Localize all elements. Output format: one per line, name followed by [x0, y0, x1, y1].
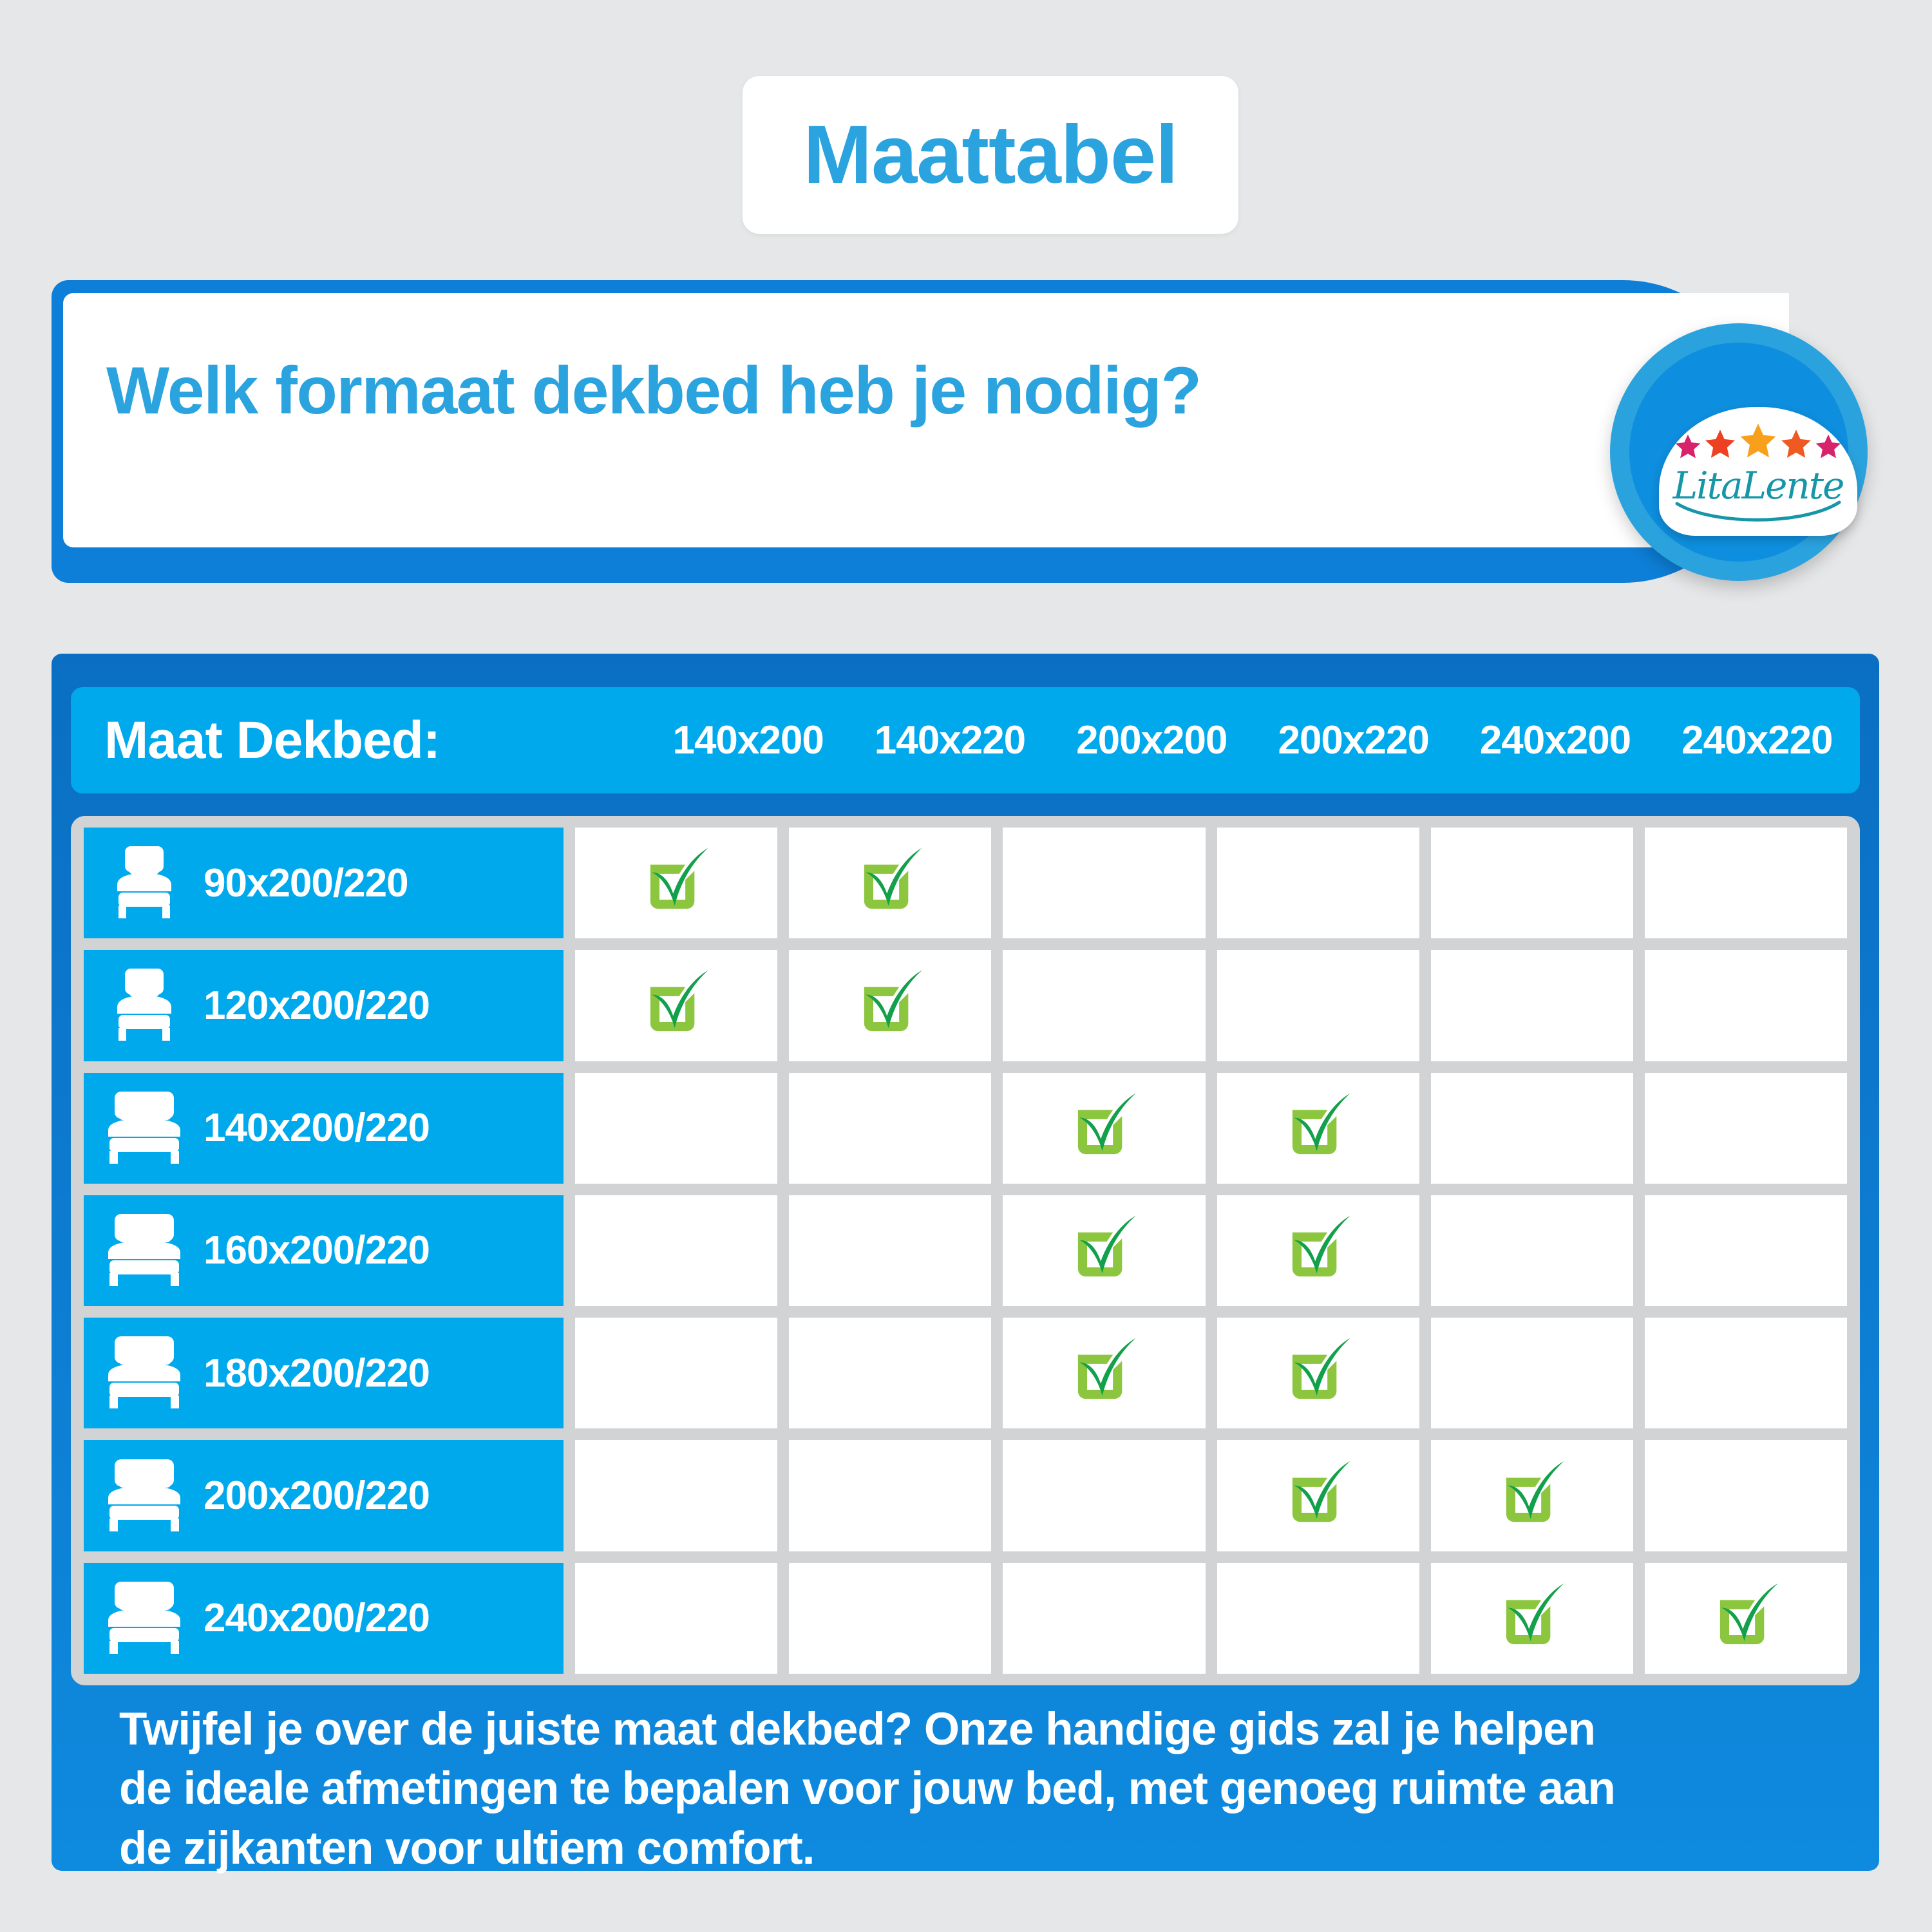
check-icon: [1066, 1090, 1142, 1166]
grid-cell-120x200/220-240x200[interactable]: [1431, 950, 1633, 1061]
check-icon: [1066, 1213, 1142, 1289]
double-bed-icon: [103, 1580, 185, 1656]
footer-line-1: Twijfel je over de juiste maat dekbed? O…: [119, 1700, 1845, 1759]
question-text: Welk formaat dekbed heb je nodig?: [106, 357, 1523, 424]
table-row: 160x200/220: [84, 1195, 1847, 1306]
grid-cell-200x200/220-140x220[interactable]: [789, 1440, 991, 1551]
check-icon: [1280, 1335, 1356, 1411]
grid-cell-180x200/220-240x220[interactable]: [1645, 1318, 1847, 1428]
table-row-header-label: Maat Dekbed:: [104, 710, 440, 771]
row-label-text: 180x200/220: [204, 1350, 430, 1396]
check-icon: [1066, 1335, 1142, 1411]
grid-cell-160x200/220-240x220[interactable]: [1645, 1195, 1847, 1306]
star-icon: [1704, 428, 1736, 460]
row-label-120x200/220[interactable]: 120x200/220: [84, 950, 563, 1061]
grid-row-container: 90x200/220120x200/220140x200/220160x200/…: [71, 816, 1860, 1685]
grid-cell-200x200/220-200x200[interactable]: [1003, 1440, 1205, 1551]
row-cells: [575, 1318, 1847, 1428]
grid-cell-200x200/220-240x220[interactable]: [1645, 1440, 1847, 1551]
single-bed-icon: [103, 967, 185, 1043]
title-card: Maattabel: [743, 76, 1238, 234]
star-icon: [1674, 433, 1701, 460]
column-header: 200x220: [1253, 687, 1454, 793]
logo-swash-icon: [1674, 497, 1842, 527]
row-cells: [575, 828, 1847, 938]
grid-cell-160x200/220-200x220[interactable]: [1217, 1195, 1419, 1306]
check-icon: [638, 845, 714, 921]
grid-cell-120x200/220-200x220[interactable]: [1217, 950, 1419, 1061]
table-row: 200x200/220: [84, 1440, 1847, 1551]
grid-cell-90x200/220-240x200[interactable]: [1431, 828, 1633, 938]
check-icon: [852, 845, 928, 921]
grid-cell-120x200/220-140x220[interactable]: [789, 950, 991, 1061]
check-icon: [1494, 1458, 1570, 1534]
grid-cell-200x200/220-140x200[interactable]: [575, 1440, 777, 1551]
check-icon: [852, 967, 928, 1043]
grid-cell-180x200/220-200x220[interactable]: [1217, 1318, 1419, 1428]
double-bed-icon: [103, 1090, 185, 1166]
check-icon: [1708, 1580, 1784, 1656]
grid-cell-140x200/220-240x200[interactable]: [1431, 1073, 1633, 1184]
grid-cell-240x200/220-200x200[interactable]: [1003, 1563, 1205, 1674]
grid-cell-180x200/220-140x200[interactable]: [575, 1318, 777, 1428]
table-row: 180x200/220: [84, 1318, 1847, 1428]
row-label-160x200/220[interactable]: 160x200/220: [84, 1195, 563, 1306]
logo-pillow-shape: LitaLente: [1659, 407, 1857, 536]
table-header-bar: Maat Dekbed: 140x200 140x220 200x200 200…: [71, 687, 1860, 793]
grid-cell-140x200/220-200x200[interactable]: [1003, 1073, 1205, 1184]
table-column-headers: 140x200 140x220 200x200 200x220 240x200 …: [647, 687, 1858, 793]
grid-cell-240x200/220-200x220[interactable]: [1217, 1563, 1419, 1674]
row-label-text: 120x200/220: [204, 983, 430, 1028]
row-label-text: 140x200/220: [204, 1105, 430, 1151]
row-label-text: 240x200/220: [204, 1595, 430, 1641]
infographic-root: Maattabel Welk formaat dekbed heb je nod…: [0, 0, 1932, 1932]
grid-cell-200x200/220-200x220[interactable]: [1217, 1440, 1419, 1551]
column-header: 240x220: [1656, 687, 1858, 793]
row-label-200x200/220[interactable]: 200x200/220: [84, 1440, 563, 1551]
table-row: 90x200/220: [84, 828, 1847, 938]
row-cells: [575, 950, 1847, 1061]
grid-cell-90x200/220-200x220[interactable]: [1217, 828, 1419, 938]
table-row: 140x200/220: [84, 1073, 1847, 1184]
check-icon: [1280, 1090, 1356, 1166]
grid-cell-200x200/220-240x200[interactable]: [1431, 1440, 1633, 1551]
table-row: 120x200/220: [84, 950, 1847, 1061]
grid-cell-160x200/220-200x200[interactable]: [1003, 1195, 1205, 1306]
row-label-180x200/220[interactable]: 180x200/220: [84, 1318, 563, 1428]
row-cells: [575, 1073, 1847, 1184]
grid-cell-90x200/220-140x200[interactable]: [575, 828, 777, 938]
double-bed-icon: [103, 1458, 185, 1534]
star-icon: [1815, 433, 1842, 460]
column-header: 140x200: [647, 687, 849, 793]
grid-cell-240x200/220-240x220[interactable]: [1645, 1563, 1847, 1674]
row-cells: [575, 1195, 1847, 1306]
check-icon: [1280, 1213, 1356, 1289]
logo-badge: LitaLente: [1610, 323, 1868, 581]
column-header: 240x200: [1454, 687, 1656, 793]
grid-cell-180x200/220-240x200[interactable]: [1431, 1318, 1633, 1428]
double-bed-icon: [103, 1213, 185, 1289]
grid-cell-140x200/220-140x200[interactable]: [575, 1073, 777, 1184]
check-icon: [1280, 1458, 1356, 1534]
grid-cell-90x200/220-140x220[interactable]: [789, 828, 991, 938]
star-icon: [1780, 428, 1812, 460]
page-title: Maattabel: [803, 114, 1177, 196]
grid-cell-240x200/220-240x200[interactable]: [1431, 1563, 1633, 1674]
row-cells: [575, 1563, 1847, 1674]
rating-stars: [1659, 421, 1857, 460]
question-banner: [52, 280, 1758, 596]
grid-cell-140x200/220-240x220[interactable]: [1645, 1073, 1847, 1184]
grid-cell-140x200/220-200x220[interactable]: [1217, 1073, 1419, 1184]
grid-cell-120x200/220-200x200[interactable]: [1003, 950, 1205, 1061]
double-bed-icon: [103, 1335, 185, 1411]
row-cells: [575, 1440, 1847, 1551]
grid-cell-160x200/220-140x200[interactable]: [575, 1195, 777, 1306]
grid-cell-240x200/220-140x200[interactable]: [575, 1563, 777, 1674]
grid-cell-160x200/220-240x200[interactable]: [1431, 1195, 1633, 1306]
logo-badge-inner-circle: LitaLente: [1629, 343, 1848, 562]
column-header: 200x200: [1051, 687, 1253, 793]
row-label-140x200/220[interactable]: 140x200/220: [84, 1073, 563, 1184]
footer-line-2: de ideale afmetingen te bepalen voor jou…: [119, 1759, 1845, 1819]
grid-cell-180x200/220-140x220[interactable]: [789, 1318, 991, 1428]
star-icon: [1739, 421, 1777, 460]
table-row: 240x200/220: [84, 1563, 1847, 1674]
row-label-text: 200x200/220: [204, 1473, 430, 1519]
footer-text: Twijfel je over de juiste maat dekbed? O…: [119, 1700, 1845, 1879]
check-icon: [638, 967, 714, 1043]
grid-cell-90x200/220-200x200[interactable]: [1003, 828, 1205, 938]
size-grid: 90x200/220120x200/220140x200/220160x200/…: [71, 816, 1860, 1685]
grid-cell-240x200/220-140x220[interactable]: [789, 1563, 991, 1674]
row-label-text: 90x200/220: [204, 860, 408, 906]
grid-cell-120x200/220-140x200[interactable]: [575, 950, 777, 1061]
footer-line-3: de zijkanten voor ultiem comfort.: [119, 1819, 1845, 1879]
check-icon: [1494, 1580, 1570, 1656]
row-label-text: 160x200/220: [204, 1227, 430, 1273]
single-bed-icon: [103, 845, 185, 921]
grid-cell-140x200/220-140x220[interactable]: [789, 1073, 991, 1184]
size-table-panel: Maat Dekbed: 140x200 140x220 200x200 200…: [52, 654, 1879, 1871]
grid-cell-90x200/220-240x220[interactable]: [1645, 828, 1847, 938]
grid-cell-160x200/220-140x220[interactable]: [789, 1195, 991, 1306]
grid-cell-120x200/220-240x220[interactable]: [1645, 950, 1847, 1061]
column-header: 140x220: [849, 687, 1050, 793]
grid-cell-180x200/220-200x200[interactable]: [1003, 1318, 1205, 1428]
row-label-90x200/220[interactable]: 90x200/220: [84, 828, 563, 938]
row-label-240x200/220[interactable]: 240x200/220: [84, 1563, 563, 1674]
